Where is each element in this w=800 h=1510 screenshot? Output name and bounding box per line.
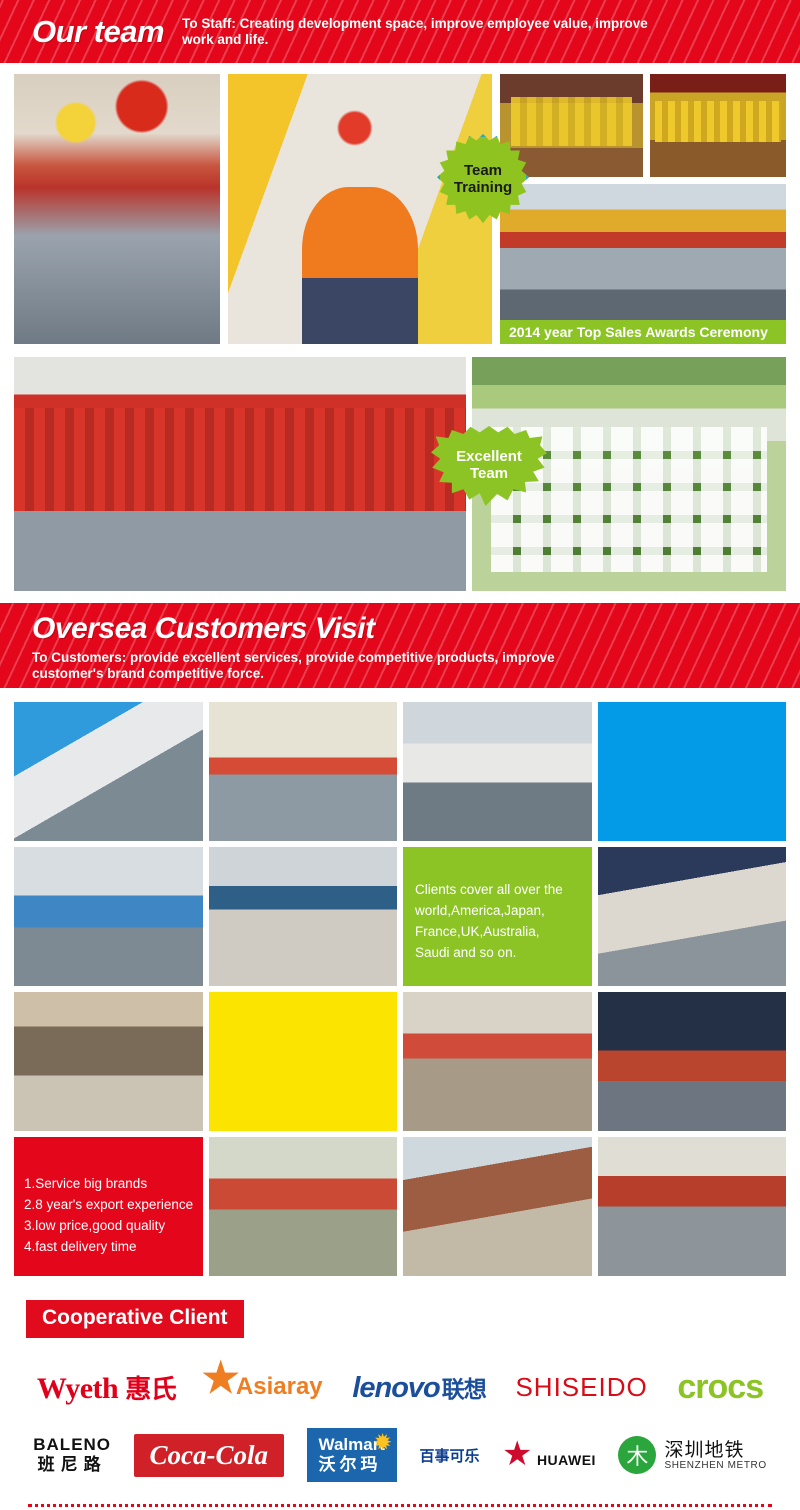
team-training-badge-label: Team Training [444, 163, 522, 197]
logo-baleno-text: BALENO [33, 1435, 111, 1454]
team-photo-award-winners [228, 74, 492, 344]
logo-baleno-cn: 班尼路 [33, 1455, 111, 1475]
photo-image [209, 847, 398, 986]
awards-ceremony-caption: 2014 year Top Sales Awards Ceremony [500, 320, 786, 344]
our-team-banner: Our team To Staff: Creating development … [0, 0, 800, 63]
logo-asiaray: ★Asiaray [206, 1373, 323, 1401]
huawei-flower-icon: ★ [502, 1435, 532, 1473]
photo-image [14, 992, 203, 1131]
customer-tile-blue [598, 702, 787, 841]
photo-image [598, 1137, 787, 1276]
logo-lenovo-text: lenovo [352, 1372, 439, 1404]
cooperative-client-section: Cooperative Client Wyeth惠氏 ★Asiaray leno… [0, 1276, 800, 1507]
oversea-customers-subtitle: To Customers: provide excellent services… [32, 650, 592, 682]
logo-walmart: ✹ Walmart 沃尔玛 [307, 1428, 397, 1482]
logo-wyeth: Wyeth惠氏 [37, 1369, 176, 1406]
logo-shenzhen-metro-cn: 深圳地铁 [664, 1440, 766, 1460]
customer-photo-4 [14, 847, 203, 986]
customer-photo-10 [209, 1137, 398, 1276]
customer-photo-6 [598, 847, 787, 986]
clients-coverage-note: Clients cover all over the world,America… [403, 847, 592, 986]
team-photo-collage: 2014 year Top Sales Awards Ceremony Team… [0, 63, 800, 603]
photo-image [209, 1137, 398, 1276]
client-logo-row-1: Wyeth惠氏 ★Asiaray lenovo联想 SHISEIDO crocs [14, 1356, 786, 1418]
logo-shiseido-text: SHISEIDO [515, 1372, 647, 1403]
logo-crocs-text: crocs [677, 1368, 763, 1407]
team-photo-large-group-yellow [650, 74, 786, 177]
logo-huawei-text: HUAWEI [537, 1452, 596, 1468]
excellent-team-badge-label: Excellent Team [446, 449, 532, 483]
photo-image [14, 357, 466, 591]
oversea-customers-title: Oversea Customers Visit [32, 609, 800, 649]
our-team-subtitle: To Staff: Creating development space, im… [182, 16, 662, 48]
star-icon: ★ [202, 1357, 240, 1399]
client-logo-row-2: BALENO 班尼路 Coca-Cola ✹ Walmart 沃尔玛 百事可乐 [14, 1424, 786, 1486]
customer-photo-3 [403, 702, 592, 841]
customer-photo-9 [598, 992, 787, 1131]
customer-photo-7 [14, 992, 203, 1131]
logo-coca-cola: Coca-Cola [134, 1434, 285, 1477]
photo-image [209, 702, 398, 841]
photo-image [598, 992, 787, 1131]
our-team-title: Our team [32, 16, 164, 48]
photo-image [14, 847, 203, 986]
logo-shenzhen-metro: 木 深圳地铁 SHENZHEN METRO [618, 1436, 766, 1474]
logo-lenovo: lenovo联想 [352, 1370, 485, 1405]
team-photo-group-store [14, 74, 220, 344]
logo-coca-cola-text: Coca-Cola [134, 1434, 285, 1477]
logo-pepsi-cn: 百事可乐 [419, 1447, 479, 1465]
customer-photo-8 [403, 992, 592, 1131]
logo-crocs: crocs [677, 1368, 763, 1407]
bottom-divider [28, 1504, 772, 1507]
customer-tile-yellow [209, 992, 398, 1131]
company-advantages-note: 1.Service big brands 2.8 year's export e… [14, 1137, 203, 1276]
photo-image [403, 1137, 592, 1276]
photo-image [650, 74, 786, 177]
logo-walmart-cn: 沃尔玛 [319, 1455, 385, 1476]
metro-mark-icon: 木 [618, 1436, 656, 1474]
photo-image [14, 74, 220, 344]
spark-icon: ✹ [374, 1433, 391, 1454]
photo-image [228, 74, 492, 344]
customer-photo-5 [209, 847, 398, 986]
logo-baleno: BALENO 班尼路 [33, 1435, 111, 1475]
promo-page: Our team To Staff: Creating development … [0, 0, 800, 1510]
logo-lenovo-cn: 联想 [442, 1377, 486, 1403]
logo-shenzhen-metro-text: SHENZHEN METRO [664, 1460, 766, 1471]
logo-shiseido: SHISEIDO [515, 1372, 647, 1403]
customer-photo-12 [598, 1137, 787, 1276]
team-photo-red-uniform-group [14, 357, 466, 591]
oversea-customers-banner: Oversea Customers Visit To Customers: pr… [0, 603, 800, 688]
customer-photo-2 [209, 702, 398, 841]
photo-image [598, 847, 787, 986]
logo-asiaray-text: Asiaray [236, 1373, 323, 1400]
logo-wyeth-text: Wyeth [37, 1372, 118, 1405]
photo-image [14, 702, 203, 841]
team-photo-awards-ceremony: 2014 year Top Sales Awards Ceremony [500, 184, 786, 344]
logo-wyeth-cn: 惠氏 [125, 1375, 176, 1405]
photo-image [403, 992, 592, 1131]
photo-image [403, 702, 592, 841]
logo-huawei: ★ HUAWEI [502, 1441, 596, 1470]
logo-pepsi: 百事可乐 [419, 1445, 479, 1466]
cooperative-client-heading: Cooperative Client [26, 1300, 244, 1338]
customers-photo-grid: Clients cover all over the world,America… [0, 688, 800, 1276]
customer-photo-1 [14, 702, 203, 841]
customer-photo-11 [403, 1137, 592, 1276]
